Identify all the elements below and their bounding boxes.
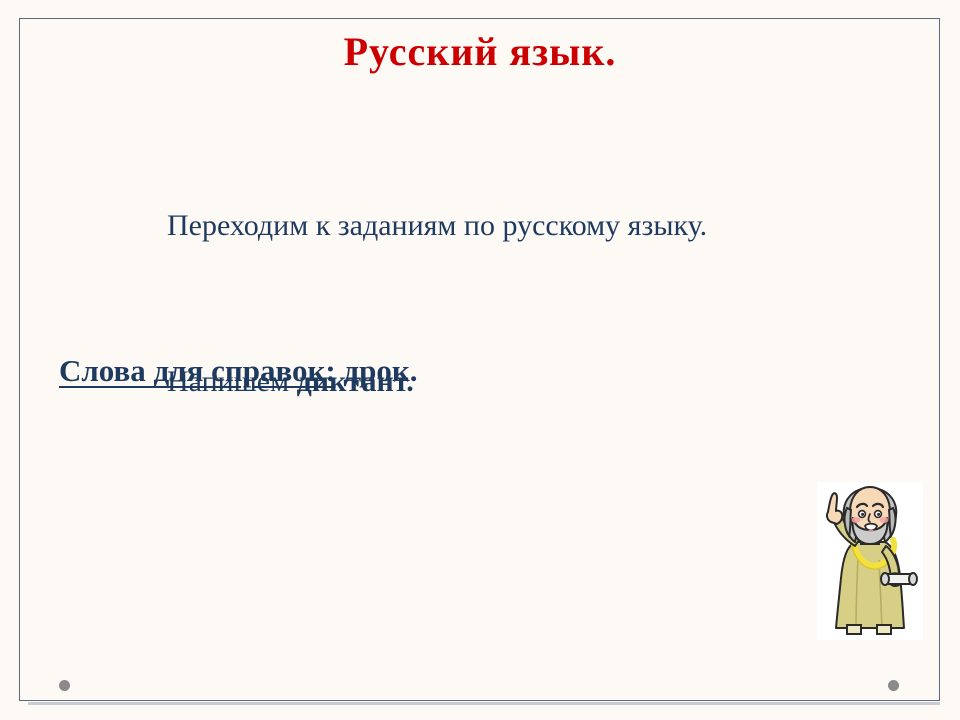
page-title: Русский язык.: [0, 28, 960, 75]
body-line-1-text: Переходим к заданиям по русскому языку.: [167, 209, 707, 242]
greek-philosopher-image: [817, 482, 923, 640]
decorative-dot-right: [888, 680, 899, 691]
decorative-dot-left: [59, 680, 70, 691]
reference-words-label: Слова для справок:: [59, 353, 336, 388]
body-line-1: Переходим к заданиям по русскому языку.: [122, 148, 922, 304]
reference-words-line: Слова для справок: дрок.: [28, 308, 417, 434]
slide-frame-shadow: [28, 702, 940, 705]
reference-words-value: дрок.: [336, 353, 418, 388]
slide-canvas: Русский язык. Переходим к заданиям по ру…: [0, 0, 960, 720]
